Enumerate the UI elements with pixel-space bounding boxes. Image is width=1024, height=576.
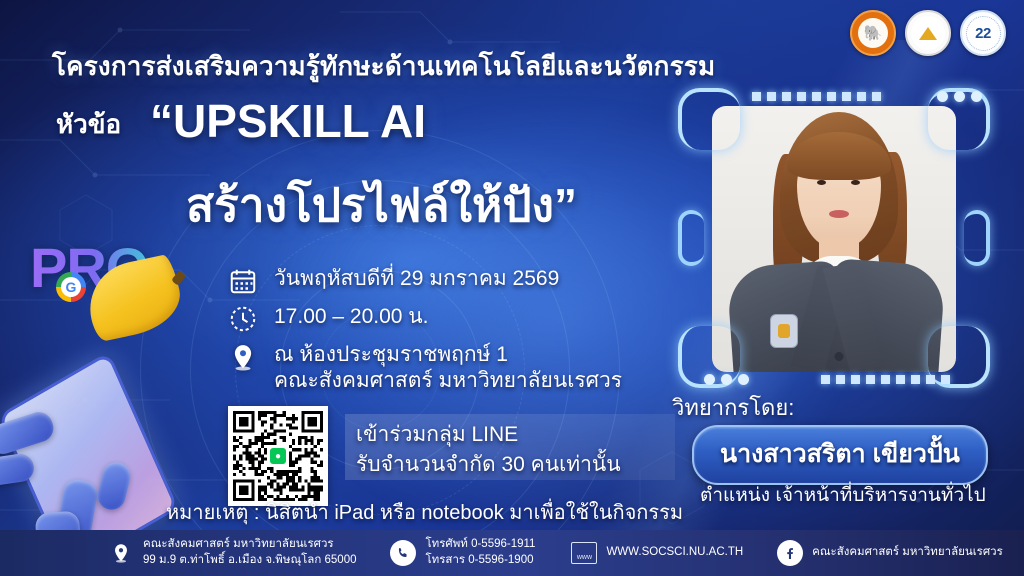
frame-dots-bottom-left xyxy=(704,374,749,385)
footer-facebook-name: คณะสังคมศาสตร์ มหาวิทยาลัยนเรศวร xyxy=(812,545,1003,561)
footer-address-line1: คณะสังคมศาสตร์ มหาวิทยาลัยนเรศวร xyxy=(143,537,356,553)
footer-website[interactable]: www WWW.SOCSCI.NU.AC.TH xyxy=(571,540,743,566)
footer-phone: โทรศัพท์ 0-5596-1911 โทรสาร 0-5596-1900 xyxy=(390,537,535,568)
frame-dots-top xyxy=(752,92,881,101)
event-time-row: 17.00 – 20.00 น. xyxy=(228,304,622,334)
speaker-label: วิทยากรโดย: xyxy=(672,390,794,425)
naresuan-university-seal-icon: 🐘 xyxy=(850,10,896,56)
line-caption-line2: รับจำนวนจำกัด 30 คนเท่านั้น xyxy=(356,450,621,480)
line-qr-code[interactable]: ● xyxy=(228,406,328,506)
faculty-seal-icon xyxy=(905,10,951,56)
topic-prefix-label: หัวข้อ xyxy=(56,104,121,145)
frame-corner-top-left xyxy=(678,88,740,150)
organization-seals: 🐘 22 xyxy=(850,10,1006,56)
event-time-text: 17.00 – 20.00 น. xyxy=(274,304,428,330)
line-app-icon: ● xyxy=(267,445,289,467)
event-date-text: วันพฤหัสบดีที่ 29 มกราคม 2569 xyxy=(274,266,559,292)
event-date-row: วันพฤหัสบดีที่ 29 มกราคม 2569 xyxy=(228,266,622,296)
footer-facebook[interactable]: คณะสังคมศาสตร์ มหาวิทยาลัยนเรศวร xyxy=(777,540,1003,566)
program-title: โครงการส่งเสริมความรู้ทักษะด้านเทคโนโลยี… xyxy=(52,46,715,87)
line-caption: เข้าร่วมกลุ่ม LINE รับจำนวนจำกัด 30 คนเท… xyxy=(356,420,621,481)
topic-title-line2: สร้างโปรไฟล์ให้ปัง” xyxy=(186,182,577,230)
poster-canvas: 🐘 22 โครงการส่งเสริมความรู้ทักษะด้านเทคโ… xyxy=(0,0,1024,576)
topic-title-line1: “UPSKILL AI xyxy=(150,98,577,146)
www-label: www xyxy=(571,542,597,564)
location-pin-icon xyxy=(228,342,258,372)
speaker-photo xyxy=(712,106,956,372)
calendar-icon xyxy=(228,266,258,296)
footer-facebook-icon xyxy=(777,540,803,566)
event-venue-subtext: คณะสังคมศาสตร์ มหาวิทยาลัยนเรศวร xyxy=(274,368,622,394)
uniform-badge-icon xyxy=(770,314,798,348)
footer-address: คณะสังคมศาสตร์ มหาวิทยาลัยนเรศวร 99 ม.9 … xyxy=(108,537,356,568)
anniversary-22-seal-icon: 22 xyxy=(960,10,1006,56)
footer-website-url: WWW.SOCSCI.NU.AC.TH xyxy=(606,545,743,561)
event-venue-text: ณ ห้องประชุมราชพฤกษ์ 1 xyxy=(274,343,508,366)
footer-phone-line2: โทรสาร 0-5596-1900 xyxy=(425,553,535,569)
footer-address-line2: 99 ม.9 ต.ท่าโพธิ์ อ.เมือง จ.พิษณุโลก 650… xyxy=(143,553,356,569)
frame-dots-top-right xyxy=(937,91,982,102)
frame-side-left xyxy=(678,210,704,266)
speaker-role: ตำแหน่ง เจ้าหน้าที่บริหารงานทั่วไป xyxy=(700,480,986,510)
footer-phone-line1: โทรศัพท์ 0-5596-1911 xyxy=(425,537,535,553)
speaker-name: นางสาวสริตา เขียวปั้น xyxy=(692,425,988,485)
google-g-icon: G xyxy=(56,272,86,302)
footer-www-icon: www xyxy=(571,540,597,566)
anniversary-number: 22 xyxy=(975,25,991,42)
topic-title-block: “UPSKILL AI สร้างโปรไฟล์ให้ปัง” xyxy=(150,98,577,230)
frame-dots-bottom xyxy=(821,375,950,384)
frame-side-right xyxy=(964,210,990,266)
footer-bar: คณะสังคมศาสตร์ มหาวิทยาลัยนเรศวร 99 ม.9 … xyxy=(0,530,1024,576)
pro-banana-logo: PRO G xyxy=(30,240,200,345)
event-details: วันพฤหัสบดีที่ 29 มกราคม 2569 17.00 – 20… xyxy=(228,266,622,401)
equipment-note: หมายเหตุ : นิสิตนำ iPad หรือ notebook มา… xyxy=(166,496,683,528)
event-venue-row: ณ ห้องประชุมราชพฤกษ์ 1 คณะสังคมศาสตร์ มห… xyxy=(228,342,622,393)
clock-icon xyxy=(228,304,258,334)
footer-phone-icon xyxy=(390,540,416,566)
footer-location-pin-icon xyxy=(108,540,134,566)
speaker-photo-frame xyxy=(678,88,990,388)
line-caption-line1: เข้าร่วมกลุ่ม LINE xyxy=(356,420,621,450)
